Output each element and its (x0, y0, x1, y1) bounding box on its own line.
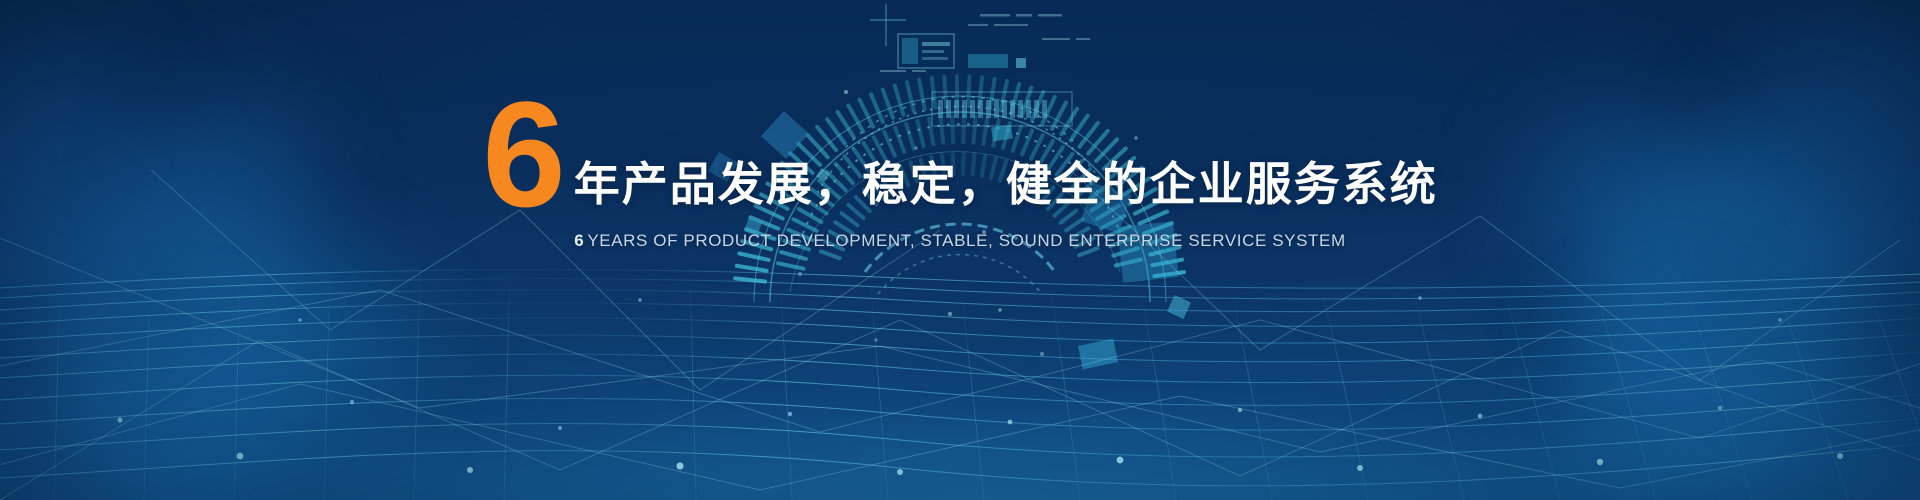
background-vignette (0, 0, 1920, 500)
hero-banner: 6 年产品发展，稳定，健全的企业服务系统 6YEARS OF PRODUCT D… (0, 0, 1920, 500)
